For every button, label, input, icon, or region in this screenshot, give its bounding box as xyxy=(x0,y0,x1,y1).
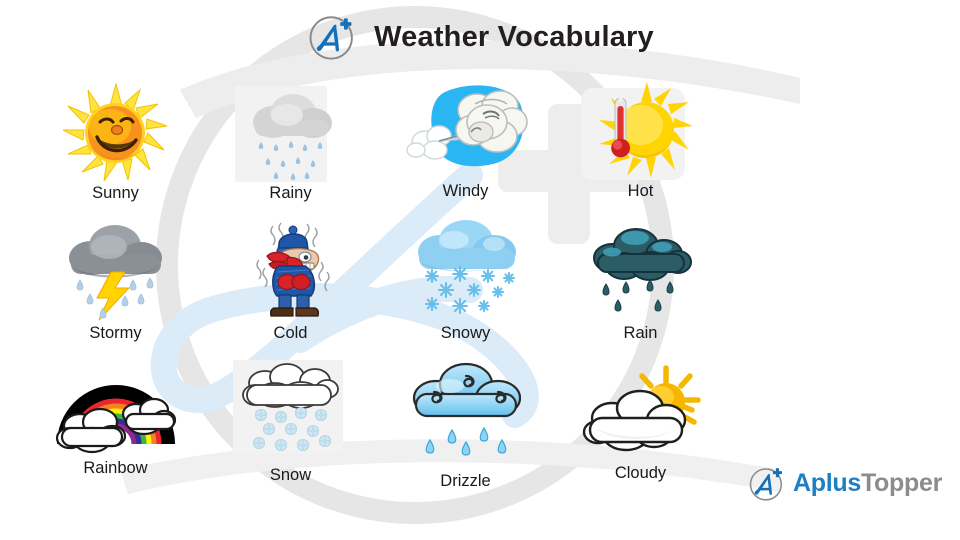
page-header: Weather Vocabulary xyxy=(0,8,960,66)
vocab-label: Windy xyxy=(378,182,553,201)
vocab-cell-hot[interactable]: Hot xyxy=(553,72,728,212)
vocab-label: Cold xyxy=(203,324,378,343)
gray-cloud-rain-icon xyxy=(203,84,378,182)
vocab-cell-cloudy[interactable]: Cloudy xyxy=(553,352,728,492)
vocab-cell-snow[interactable]: Snow xyxy=(203,352,378,492)
vocab-label: Snowy xyxy=(378,324,553,343)
vocab-label: Hot xyxy=(553,182,728,201)
rainbow-clouds-icon xyxy=(28,352,203,456)
cloud-lightning-rain-icon xyxy=(28,220,203,320)
weather-vocabulary-grid: Sunny xyxy=(28,72,728,492)
swirl-cloud-drizzle-icon xyxy=(378,358,553,466)
vocab-label: Rain xyxy=(553,324,728,343)
shivering-man-icon xyxy=(203,216,378,320)
vocab-cell-cold[interactable]: Cold xyxy=(203,212,378,352)
vocab-label: Drizzle xyxy=(378,472,553,491)
page-title: Weather Vocabulary xyxy=(374,21,654,54)
vocab-cell-drizzle[interactable]: Drizzle xyxy=(378,352,553,492)
vocab-label: Rainy xyxy=(203,184,378,203)
vocab-cell-sunny[interactable]: Sunny xyxy=(28,72,203,212)
vocab-label: Sunny xyxy=(28,184,203,203)
aplus-logo-icon xyxy=(306,10,360,64)
vocab-cell-rain[interactable]: Rain xyxy=(553,212,728,352)
smiling-sun-icon xyxy=(28,82,203,182)
cloud-sun-icon xyxy=(553,362,728,464)
dark-cloud-raindrops-icon xyxy=(553,222,728,320)
brand-name-primary: Aplus xyxy=(793,469,861,497)
vocab-label: Snow xyxy=(203,466,378,485)
vocab-cell-rainy[interactable]: Rainy xyxy=(203,72,378,212)
vocab-cell-stormy[interactable]: Stormy xyxy=(28,212,203,352)
vocab-label: Stormy xyxy=(28,324,203,343)
vocab-cell-windy[interactable]: Windy xyxy=(378,72,553,212)
aplustopper-brand[interactable]: AplusTopper xyxy=(747,462,942,504)
blowing-wind-cloud-icon xyxy=(378,80,553,186)
vocab-label: Cloudy xyxy=(553,464,728,483)
vocab-cell-rainbow[interactable]: Rainbow xyxy=(28,352,203,492)
vocab-cell-snowy[interactable]: Snowy xyxy=(378,212,553,352)
brand-name-secondary: Topper xyxy=(861,469,942,497)
sun-thermometer-icon xyxy=(553,82,728,182)
vocab-label: Rainbow xyxy=(28,459,203,478)
aplus-logo-icon xyxy=(747,462,789,504)
white-cloud-snow-icon xyxy=(203,356,378,458)
blue-cloud-snowflakes-icon xyxy=(378,216,553,320)
